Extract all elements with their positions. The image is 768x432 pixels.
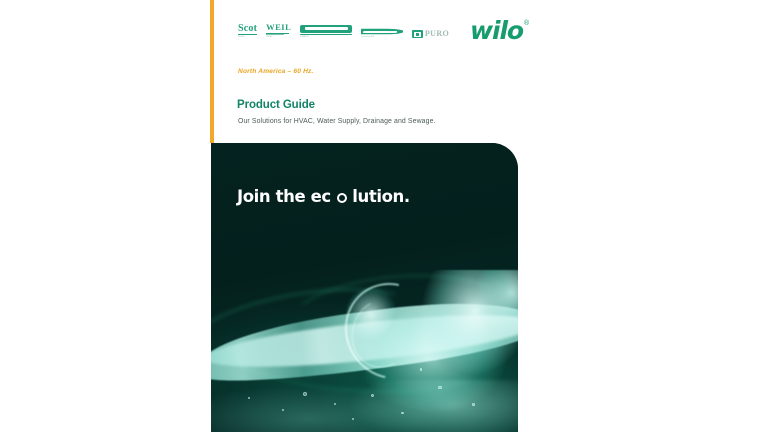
puro-badge-icon: [412, 30, 423, 38]
water-bubble: [420, 368, 422, 370]
weil-logo-text: WEIL: [266, 23, 291, 32]
orange-accent-bar: [210, 0, 214, 143]
quantumflo-swoosh-icon: [361, 28, 403, 35]
water-bubble: [303, 392, 307, 396]
page-title: Product Guide: [237, 99, 315, 111]
american-marsh-logo-tagline: PUMPS: [300, 36, 352, 38]
water-bubble: [472, 403, 475, 406]
wilo-brand-logo: wilo ®: [470, 18, 529, 43]
catalog-cover-page: Scot PUMP WEIL PUMP PUMPS QuantumFlo PUR…: [0, 0, 768, 432]
registered-trademark-icon: ®: [524, 20, 529, 27]
water-bubble: [334, 403, 336, 405]
page-subtitle: Our Solutions for HVAC, Water Supply, Dr…: [238, 118, 436, 125]
water-bubble: [352, 418, 354, 420]
scot-logo-text: Scot: [238, 24, 257, 34]
water-bubble: [438, 386, 441, 389]
weil-logo-rule-secondary: [266, 34, 284, 35]
scot-wordmark-logo: Scot PUMP: [238, 24, 257, 39]
weil-logo-tagline: PUMP: [266, 36, 291, 38]
hero-headline: Join the ec lution.: [237, 187, 410, 206]
wilo-logo-text: wilo: [470, 18, 523, 43]
american-marsh-emblem-icon: [300, 25, 352, 33]
quantumflo-logo-tagline: QuantumFlo: [361, 36, 403, 38]
hero-image-panel: Join the ec lution.: [211, 143, 518, 432]
ecolution-o-ring-icon: [337, 193, 347, 203]
scot-logo-rule: [238, 34, 257, 35]
weil-wordmark-logo: WEIL PUMP: [266, 23, 291, 38]
hero-headline-part-two: lution.: [352, 187, 410, 206]
water-foam-pool: [211, 380, 518, 432]
american-marsh-logo-rule: [300, 34, 352, 36]
hero-headline-part-one: Join the ec: [237, 187, 331, 206]
puro-logo-text: PURO: [425, 30, 449, 38]
water-bubble: [401, 412, 403, 414]
puro-badge-logo: PURO: [412, 30, 449, 38]
region-frequency-label: North America – 60 Hz.: [238, 68, 314, 75]
sub-brand-logo-strip: Scot PUMP WEIL PUMP PUMPS QuantumFlo PUR…: [238, 23, 449, 38]
american-marsh-emblem-logo: PUMPS: [300, 25, 352, 39]
quantumflo-swoosh-logo: QuantumFlo: [361, 28, 403, 38]
scot-logo-tagline: PUMP: [238, 36, 257, 38]
